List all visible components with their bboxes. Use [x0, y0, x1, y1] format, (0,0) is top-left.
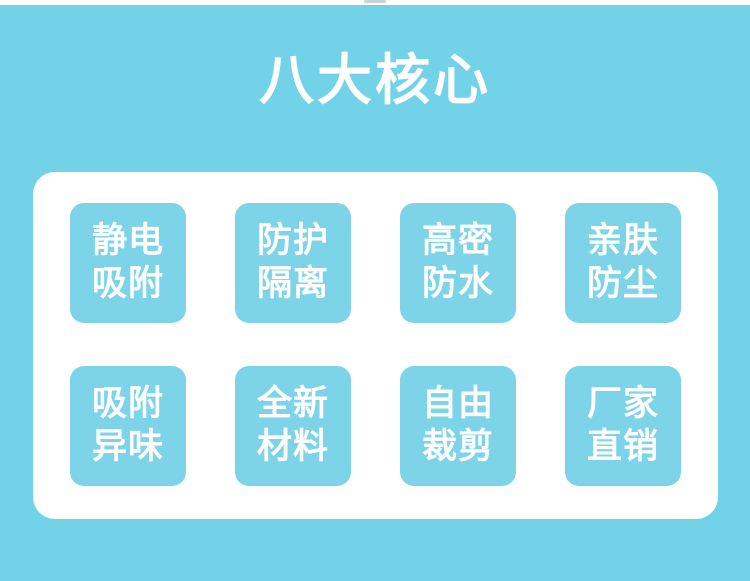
feature-card-line2: 防水 [422, 263, 494, 306]
feature-card-line1: 防护 [257, 220, 329, 263]
promo-banner: 八大核心 静电 吸附 防护 隔离 高密 防水 亲肤 防尘 吸附 异味 [0, 0, 750, 581]
feature-card-line1: 静电 [92, 220, 164, 263]
page-title: 八大核心 [0, 46, 750, 114]
top-white-strip [0, 0, 750, 5]
feature-card[interactable]: 厂家 直销 [565, 366, 681, 486]
feature-card-line1: 全新 [257, 383, 329, 426]
feature-card-line2: 异味 [92, 426, 164, 469]
feature-card[interactable]: 自由 裁剪 [400, 366, 516, 486]
feature-card-line1: 高密 [422, 220, 494, 263]
feature-card[interactable]: 亲肤 防尘 [565, 203, 681, 323]
feature-card[interactable]: 防护 隔离 [235, 203, 351, 323]
feature-card-line1: 亲肤 [587, 220, 659, 263]
feature-card[interactable]: 吸附 异味 [70, 366, 186, 486]
feature-card[interactable]: 全新 材料 [235, 366, 351, 486]
top-strip-artifact-mark [364, 0, 386, 3]
feature-card-line1: 吸附 [92, 383, 164, 426]
feature-card[interactable]: 静电 吸附 [70, 203, 186, 323]
feature-card-line2: 直销 [587, 426, 659, 469]
feature-card-line1: 厂家 [587, 383, 659, 426]
feature-card-line1: 自由 [422, 383, 494, 426]
feature-card-line2: 吸附 [92, 263, 164, 306]
feature-card-grid: 静电 吸附 防护 隔离 高密 防水 亲肤 防尘 吸附 异味 全新 材料 [70, 203, 681, 486]
feature-card-line2: 防尘 [587, 263, 659, 306]
feature-card-line2: 材料 [257, 426, 329, 469]
feature-card-line2: 裁剪 [422, 426, 494, 469]
feature-card-line2: 隔离 [257, 263, 329, 306]
features-panel: 静电 吸附 防护 隔离 高密 防水 亲肤 防尘 吸附 异味 全新 材料 [33, 172, 718, 519]
feature-card[interactable]: 高密 防水 [400, 203, 516, 323]
